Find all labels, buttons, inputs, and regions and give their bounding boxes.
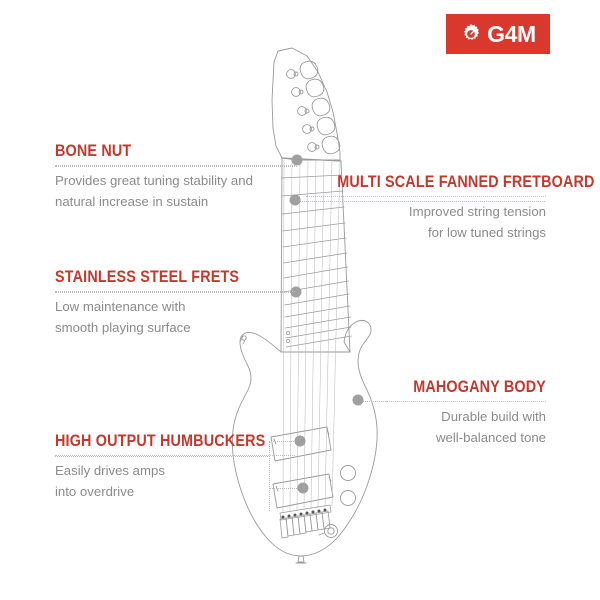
callout-body-line: into overdrive — [55, 482, 295, 502]
tuner-posts — [287, 70, 319, 152]
control-knobs — [341, 466, 356, 506]
callout-title-bone-nut: BONE NUT — [55, 143, 264, 160]
tuner-buttons — [300, 61, 340, 154]
callout-body-line: Easily drives amps — [55, 461, 295, 481]
callout-body-line: Durable build with — [386, 407, 546, 427]
callout-body-multi-scale-fretboard: Improved string tension for low tuned st… — [306, 202, 546, 243]
callout-mahogany-body: MAHOGANY BODY Durable build with well-ba… — [386, 379, 546, 448]
strap-button-bottom — [296, 556, 306, 563]
callout-rule — [55, 291, 295, 292]
brand-logo-text: G4M — [487, 23, 536, 46]
callout-stainless-steel-frets: STAINLESS STEEL FRETS Low maintenance wi… — [55, 269, 295, 338]
callout-body-stainless-steel-frets: Low maintenance with smooth playing surf… — [55, 297, 295, 338]
callout-rule — [386, 401, 546, 402]
callout-body-high-output-humbuckers: Easily drives amps into overdrive — [55, 461, 295, 502]
bridge — [280, 505, 331, 538]
bridge-saddles — [280, 511, 330, 538]
callout-multi-scale-fretboard: MULTI SCALE FANNED FRETBOARD Improved st… — [306, 174, 546, 243]
callout-bone-nut: BONE NUT Provides great tuning stability… — [55, 143, 295, 212]
callout-body-line: Low maintenance with — [55, 297, 295, 317]
callout-body-line: smooth playing surface — [55, 318, 295, 338]
hotspot-neck-pickup[interactable] — [295, 436, 306, 447]
callout-title-multi-scale-fretboard: MULTI SCALE FANNED FRETBOARD — [337, 174, 546, 191]
callout-body-line: Improved string tension — [306, 202, 546, 222]
callout-body-line: natural increase in sustain — [55, 192, 295, 212]
gear-icon — [460, 23, 482, 45]
callout-title-stainless-steel-frets: STAINLESS STEEL FRETS — [55, 269, 264, 286]
callout-rule — [55, 455, 295, 456]
callout-body-line: well-balanced tone — [386, 428, 546, 448]
callout-rule — [306, 196, 546, 197]
diagram-canvas: G4M BONE NUT Provides great tuning stabi… — [0, 0, 600, 600]
callout-body-line: Provides great tuning stability and — [55, 171, 295, 191]
callout-body-mahogany-body: Durable build with well-balanced tone — [386, 407, 546, 448]
output-jack — [319, 525, 338, 538]
hotspot-mahogany-body[interactable] — [353, 395, 364, 406]
callout-rule — [55, 165, 295, 166]
bridge-string-ends — [282, 509, 327, 519]
callout-high-output-humbuckers: HIGH OUTPUT HUMBUCKERS Easily drives amp… — [55, 433, 295, 502]
hotspot-bridge-pickup[interactable] — [298, 483, 309, 494]
callout-body-bone-nut: Provides great tuning stability and natu… — [55, 171, 295, 212]
callout-body-line: for low tuned strings — [306, 223, 546, 243]
brand-logo[interactable]: G4M — [446, 14, 550, 54]
callout-title-mahogany-body: MAHOGANY BODY — [407, 379, 546, 396]
callout-title-high-output-humbuckers: HIGH OUTPUT HUMBUCKERS — [55, 433, 264, 450]
